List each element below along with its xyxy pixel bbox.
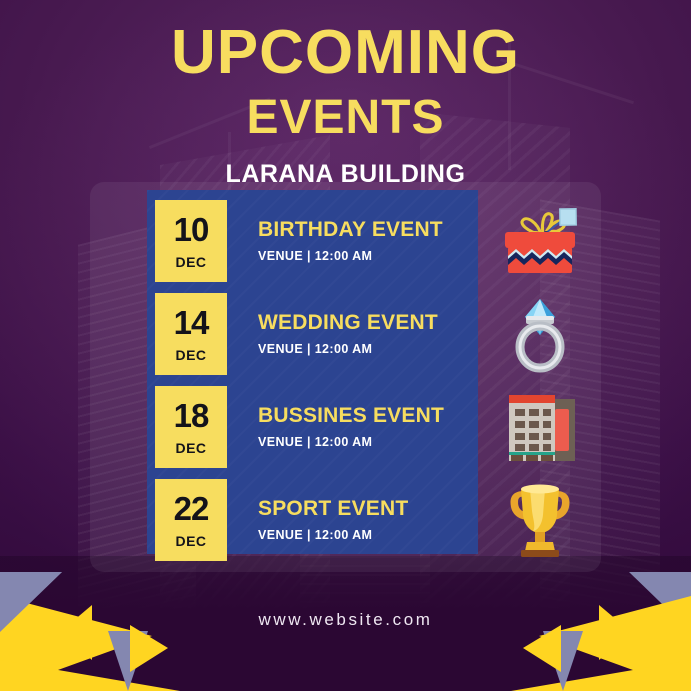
event-details: BUSSINES EVENT VENUE | 12:00 AM <box>227 386 478 468</box>
events-list: 10 DEC BIRTHDAY EVENT VENUE | 12:00 AM 1… <box>147 190 478 554</box>
event-day: 10 <box>174 213 209 246</box>
event-name: SPORT EVENT <box>258 498 478 520</box>
event-date-box: 18 DEC <box>155 386 227 468</box>
event-date-box: 10 DEC <box>155 200 227 282</box>
event-icons <box>478 190 601 554</box>
event-meta: VENUE | 12:00 AM <box>258 342 478 356</box>
event-date-box: 14 DEC <box>155 293 227 375</box>
event-day: 14 <box>174 306 209 339</box>
event-day: 18 <box>174 399 209 432</box>
event-meta: VENUE | 12:00 AM <box>258 435 478 449</box>
event-details: BIRTHDAY EVENT VENUE | 12:00 AM <box>227 200 478 282</box>
event-date-box: 22 DEC <box>155 479 227 561</box>
event-month: DEC <box>175 255 206 269</box>
event-month: DEC <box>175 348 206 362</box>
gift-box-icon <box>478 200 601 282</box>
event-name: BUSSINES EVENT <box>258 405 478 427</box>
event-name: WEDDING EVENT <box>258 312 478 334</box>
poster-header: UPCOMING EVENTS LARANA BUILDING <box>0 22 691 189</box>
event-name: BIRTHDAY EVENT <box>258 219 478 241</box>
event-row[interactable]: 18 DEC BUSSINES EVENT VENUE | 12:00 AM <box>147 386 478 468</box>
event-meta: VENUE | 12:00 AM <box>258 528 478 542</box>
event-month: DEC <box>175 534 206 548</box>
event-month: DEC <box>175 441 206 455</box>
event-poster: UPCOMING EVENTS LARANA BUILDING 10 DEC B… <box>0 0 691 691</box>
diamond-ring-icon <box>478 293 601 375</box>
event-row[interactable]: 10 DEC BIRTHDAY EVENT VENUE | 12:00 AM <box>147 200 478 282</box>
trophy-icon <box>478 479 601 561</box>
website-url: www.website.com <box>0 610 691 630</box>
page-title: UPCOMING <box>0 22 691 84</box>
event-row[interactable]: 14 DEC WEDDING EVENT VENUE | 12:00 AM <box>147 293 478 375</box>
event-meta: VENUE | 12:00 AM <box>258 249 478 263</box>
office-building-icon <box>478 386 601 468</box>
event-details: SPORT EVENT VENUE | 12:00 AM <box>227 479 478 561</box>
event-day: 22 <box>174 492 209 525</box>
event-row[interactable]: 22 DEC SPORT EVENT VENUE | 12:00 AM <box>147 479 478 561</box>
page-title-second-line: EVENTS <box>0 94 691 142</box>
event-details: WEDDING EVENT VENUE | 12:00 AM <box>227 293 478 375</box>
